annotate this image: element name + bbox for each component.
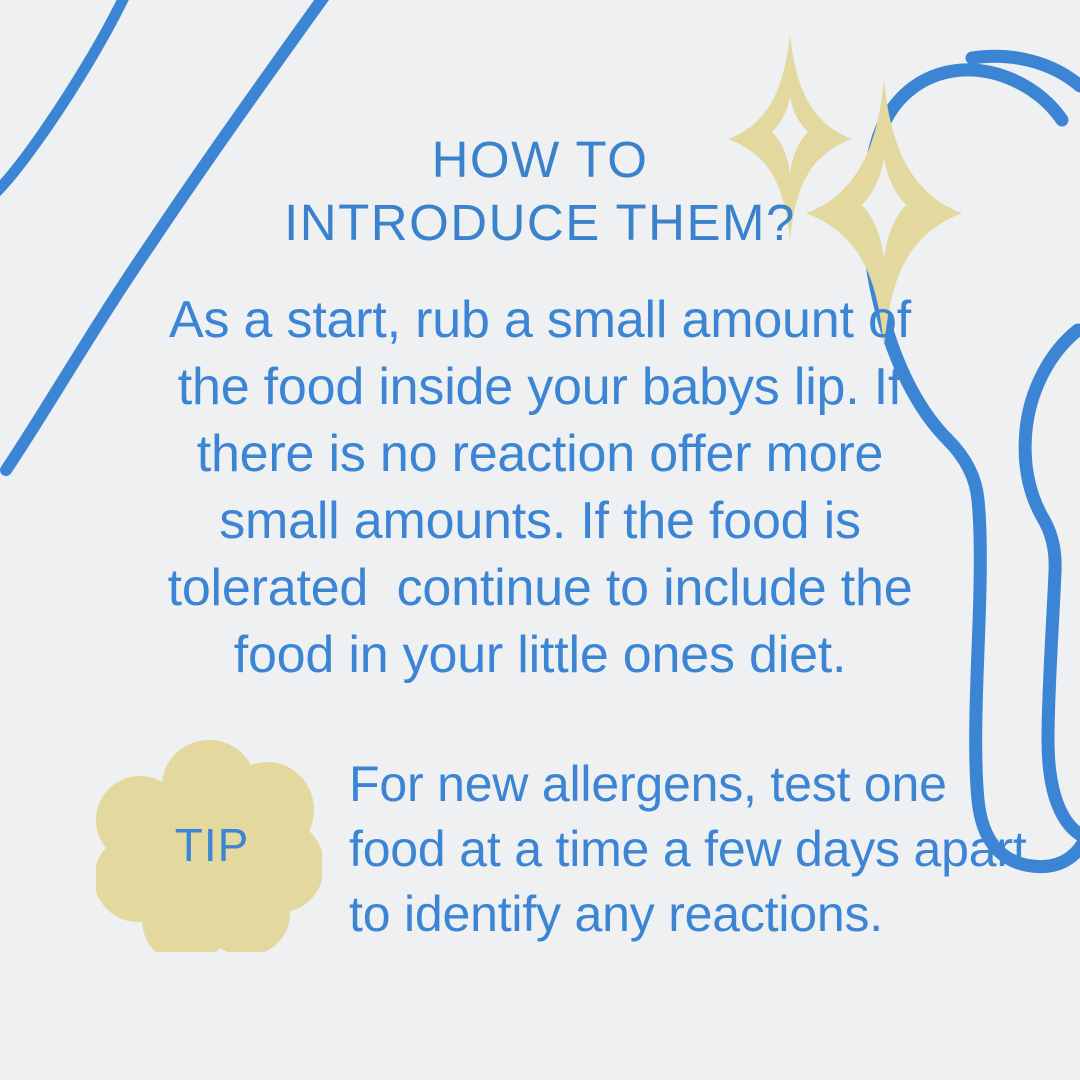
tip-line-3: to identify any reactions. — [349, 882, 1049, 947]
body-line-2: the food inside your babys lip. If — [90, 354, 990, 421]
tip-badge: TIP — [96, 738, 322, 952]
body-line-4: small amounts. If the food is — [90, 488, 990, 555]
tip-line-1: For new allergens, test one — [349, 752, 1049, 817]
tip-line-2: food at a time a few days apart — [349, 817, 1049, 882]
page-title-line-2: INTRODUCE THEM? — [0, 191, 1080, 254]
body-line-1: As a start, rub a small amount of — [90, 287, 990, 354]
body-line-3: there is no reaction offer more — [90, 421, 990, 488]
infographic-card: HOW TO INTRODUCE THEM? As a start, rub a… — [0, 0, 1080, 1080]
page-title: HOW TO INTRODUCE THEM? — [0, 128, 1080, 254]
tip-badge-label: TIP — [96, 738, 322, 952]
page-title-line-1: HOW TO — [0, 128, 1080, 191]
body-line-6: food in your little ones diet. — [90, 622, 990, 689]
body-line-5: tolerated continue to include the — [90, 555, 990, 622]
tip-paragraph: For new allergens, test one food at a ti… — [349, 752, 1049, 947]
body-paragraph: As a start, rub a small amount of the fo… — [90, 287, 990, 689]
